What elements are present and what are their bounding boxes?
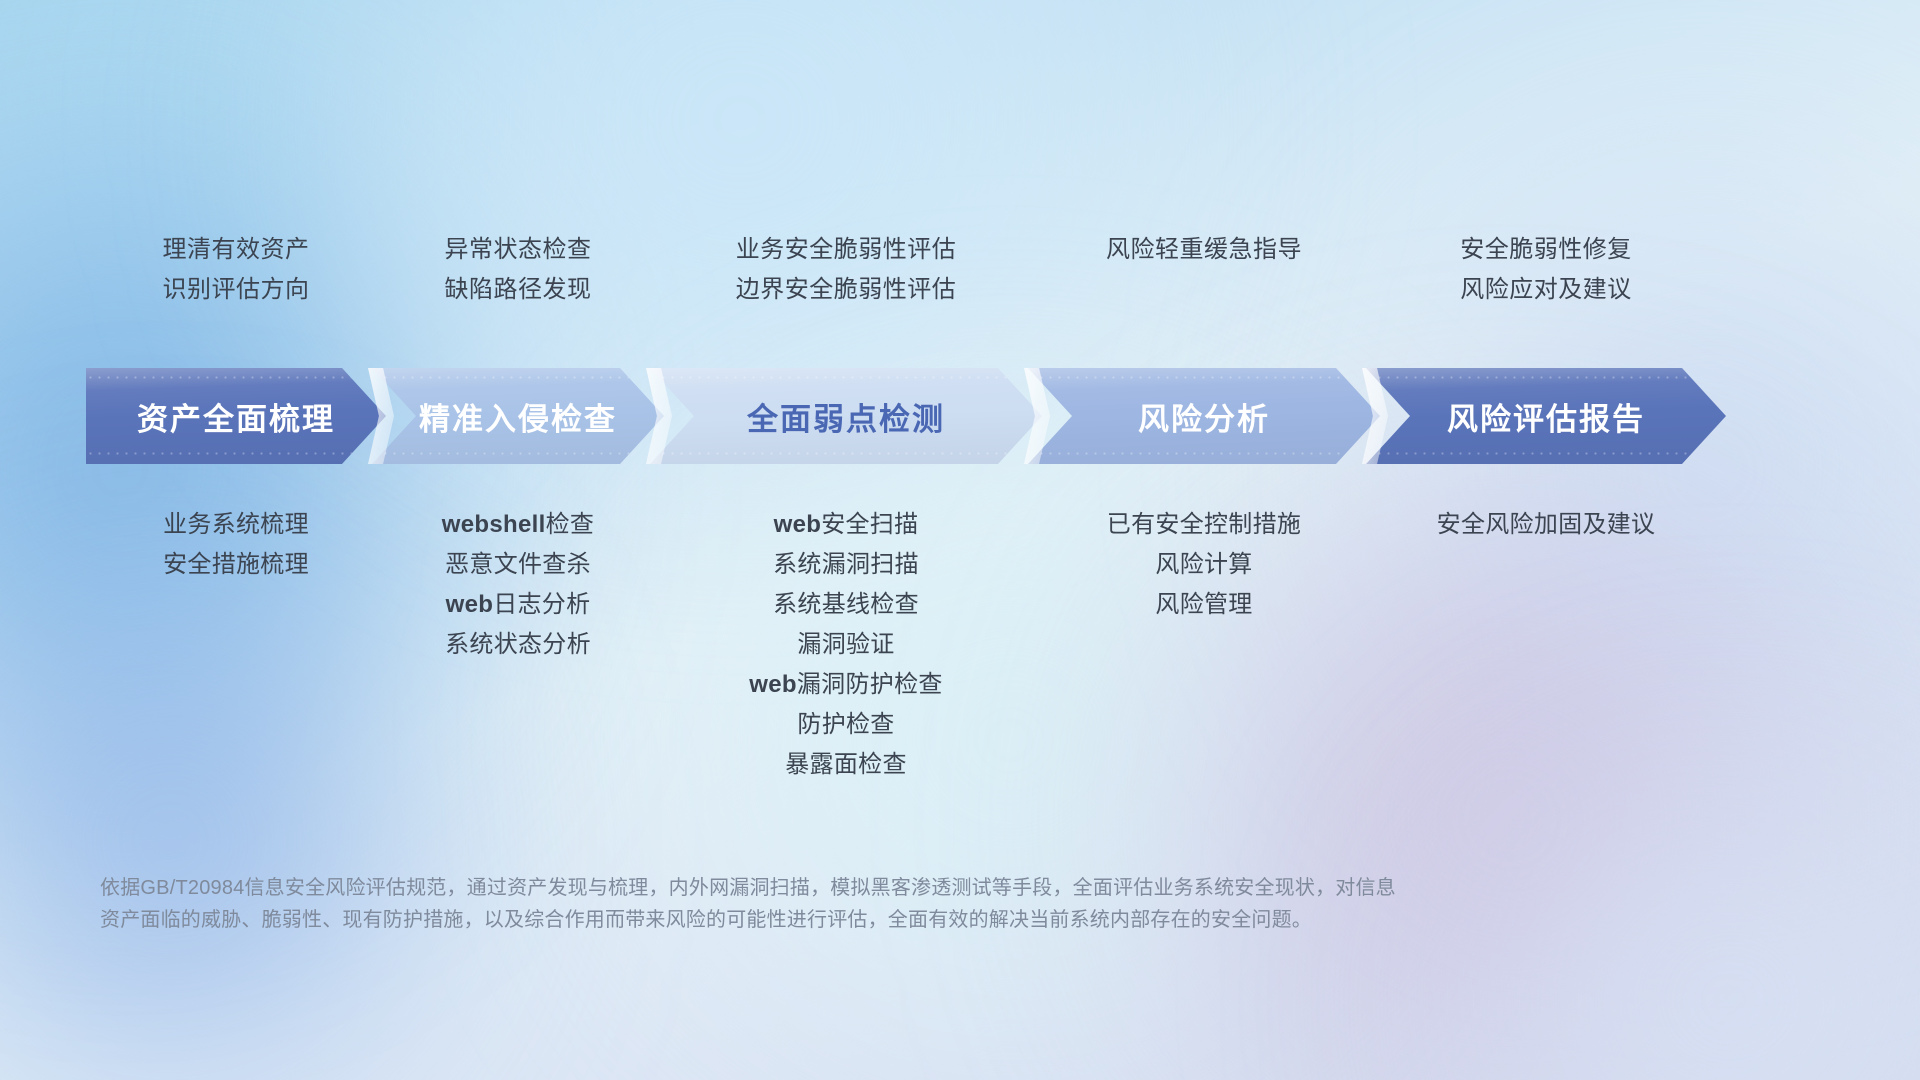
chevron-dot-texture-top xyxy=(1028,373,1380,383)
stage-chevron-asset-inventory[interactable]: 资产全面梳理 xyxy=(86,368,386,464)
stage-title: 资产全面梳理 xyxy=(137,394,335,439)
top-notes-assessment-report: 安全脆弱性修复风险应对及建议 xyxy=(1326,230,1766,311)
process-chevron-band: 资产全面梳理精准入侵检查全面弱点检测风险分析风险评估报告 xyxy=(0,368,1920,464)
bottom-items-assessment-report: 安全风险加固及建议 xyxy=(1326,505,1766,545)
bottom-item-prefix: webshell xyxy=(442,511,546,538)
bottom-item-text: 漏洞防护检查 xyxy=(797,671,943,698)
footer-line-2: 资产面临的威胁、脆弱性、现有防护措施，以及综合作用而带来风险的可能性进行评估，全… xyxy=(100,904,1700,936)
stage-chevron-weakness-detection[interactable]: 全面弱点检测 xyxy=(650,368,1042,464)
bottom-item-prefix: web xyxy=(446,591,494,618)
bottom-item: 风险管理 xyxy=(984,585,1424,625)
footer-description: 依据GB/T20984信息安全风险评估规范，通过资产发现与梳理，内外网漏洞扫描，… xyxy=(100,872,1700,937)
bottom-item: 安全风险加固及建议 xyxy=(1326,505,1766,545)
chevron-dot-texture-bottom xyxy=(372,449,664,459)
bottom-item-prefix: web xyxy=(749,671,797,698)
bottom-item-text: 日志分析 xyxy=(493,591,590,618)
top-note: 边界安全脆弱性评估 xyxy=(626,270,1066,310)
chevron-dot-texture-bottom xyxy=(1366,449,1726,459)
stage-title: 精准入侵检查 xyxy=(419,394,617,439)
top-note: 风险应对及建议 xyxy=(1326,270,1766,310)
stage-title: 风险评估报告 xyxy=(1447,394,1645,439)
bottom-item: 漏洞验证 xyxy=(626,625,1066,665)
bottom-item-text: 安全扫描 xyxy=(821,511,918,538)
footer-line-1: 依据GB/T20984信息安全风险评估规范，通过资产发现与梳理，内外网漏洞扫描，… xyxy=(100,872,1700,904)
stage-chevron-risk-analysis[interactable]: 风险分析 xyxy=(1028,368,1380,464)
chevron-dot-texture-bottom xyxy=(1028,449,1380,459)
bottom-item: 暴露面检查 xyxy=(626,745,1066,785)
chevron-dot-texture-top xyxy=(650,373,1042,383)
bottom-item: 风险计算 xyxy=(984,545,1424,585)
chevron-dot-texture-top xyxy=(86,373,386,383)
stage-title: 全面弱点检测 xyxy=(747,394,945,439)
stage-title: 风险分析 xyxy=(1138,394,1270,439)
bottom-item-prefix: web xyxy=(774,511,822,538)
chevron-dot-texture-top xyxy=(1366,373,1726,383)
bottom-item: 防护检查 xyxy=(626,705,1066,745)
chevron-dot-texture-bottom xyxy=(86,449,386,459)
top-note: 安全脆弱性修复 xyxy=(1326,230,1766,270)
chevron-dot-texture-bottom xyxy=(650,449,1042,459)
bottom-item: web漏洞防护检查 xyxy=(626,665,1066,705)
stage-chevron-assessment-report[interactable]: 风险评估报告 xyxy=(1366,368,1726,464)
stage-chevron-intrusion-check[interactable]: 精准入侵检查 xyxy=(372,368,664,464)
chevron-dot-texture-top xyxy=(372,373,664,383)
bottom-item-text: 检查 xyxy=(546,511,595,538)
